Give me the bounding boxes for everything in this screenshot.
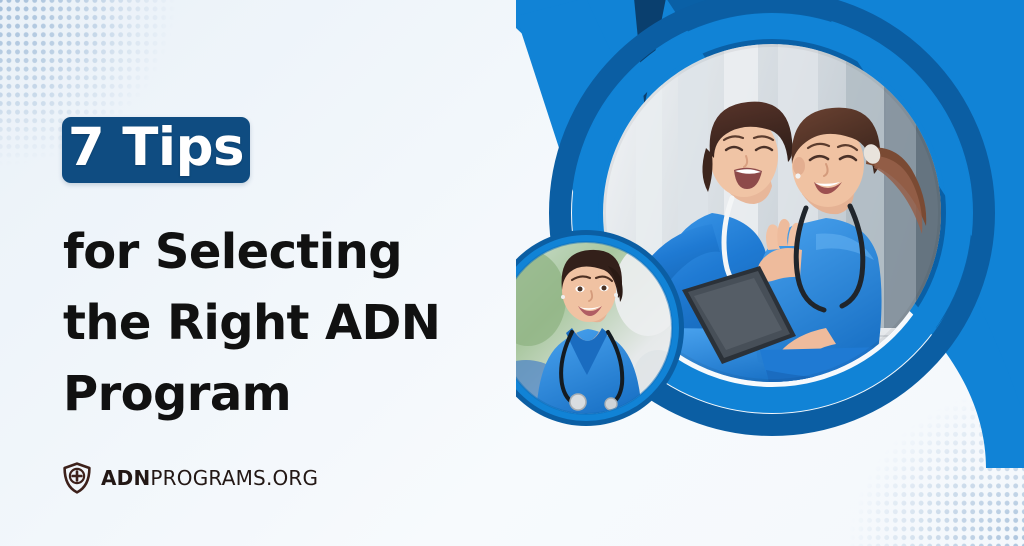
- site-logo[interactable]: ADNPROGRAMS.ORG: [62, 462, 318, 494]
- tips-count-label: 7 Tips: [62, 117, 250, 183]
- shield-plus-icon: [62, 462, 92, 494]
- tips-count-badge: 7 Tips: [62, 117, 250, 183]
- headline-line-3: Program: [63, 359, 503, 430]
- site-logo-text: ADNPROGRAMS.ORG: [101, 466, 318, 490]
- logo-text-bold: ADN: [101, 466, 150, 490]
- blog-banner: 7 Tips for Selecting the Right ADN Progr…: [0, 0, 1024, 546]
- logo-text-rest: PROGRAMS.ORG: [150, 466, 318, 490]
- headline-line-2: the Right ADN: [63, 288, 503, 359]
- page-title: for Selecting the Right ADN Program: [63, 217, 503, 430]
- headline-line-1: for Selecting: [63, 217, 503, 288]
- text-column: 7 Tips for Selecting the Right ADN Progr…: [0, 0, 520, 546]
- artwork-group: [516, 0, 1024, 468]
